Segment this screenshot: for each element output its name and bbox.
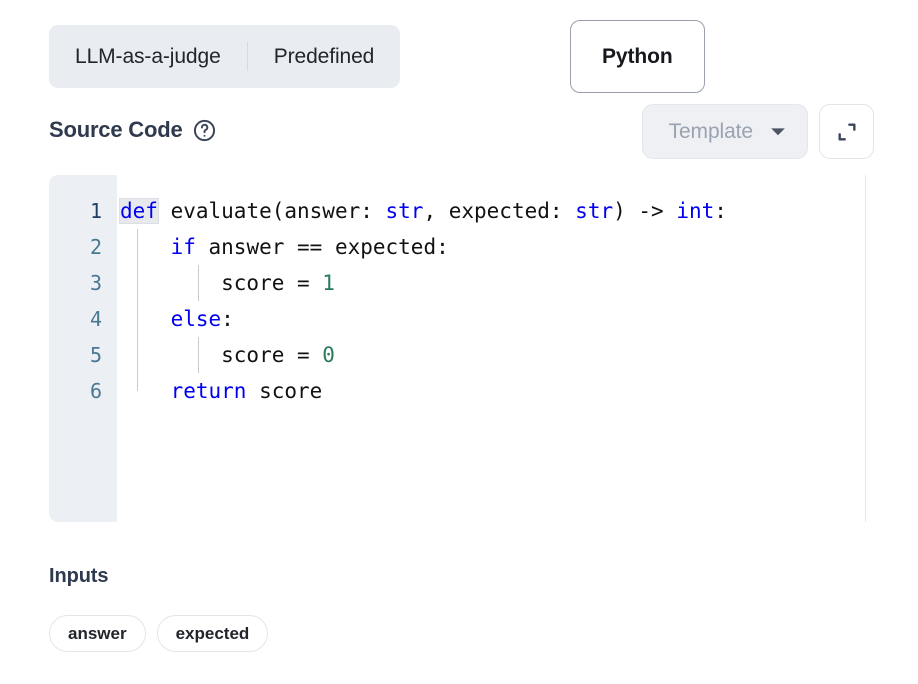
- source-code-title-group: Source Code: [49, 117, 217, 143]
- line-number: 4: [49, 301, 117, 337]
- template-button-label: Template: [669, 120, 753, 144]
- line-number: 3: [49, 265, 117, 301]
- code-token: 0: [322, 343, 335, 367]
- code-token: :: [221, 307, 234, 331]
- code-token: [120, 307, 171, 331]
- code-line: score = 0: [117, 337, 873, 373]
- code-token: if: [171, 235, 196, 259]
- code-token: str: [575, 199, 613, 223]
- line-number: 1: [49, 193, 117, 229]
- code-token: 1: [322, 271, 335, 295]
- tab-label: Predefined: [274, 45, 375, 69]
- python-scorer-panel: LLM-as-a-judge Predefined Python Source …: [0, 0, 918, 684]
- source-code-editor[interactable]: 1 2 3 4 5 6 def evaluate(answer: str, ex…: [49, 175, 873, 522]
- code-token: [120, 379, 171, 403]
- question-circle-icon[interactable]: [192, 118, 217, 143]
- code-line: def evaluate(answer: str, expected: str)…: [117, 193, 873, 229]
- inputs-section-title: Inputs: [49, 565, 108, 588]
- code-token: ) ->: [613, 199, 676, 223]
- code-token: score =: [120, 343, 322, 367]
- code-token: evaluate(answer:: [158, 199, 386, 223]
- input-chip-label: answer: [68, 624, 127, 644]
- line-number: 6: [49, 373, 117, 409]
- line-number: 2: [49, 229, 117, 265]
- code-token: else: [171, 307, 222, 331]
- tab-predefined[interactable]: Predefined: [248, 25, 401, 88]
- code-token: answer == expected:: [196, 235, 449, 259]
- tab-label: LLM-as-a-judge: [75, 45, 221, 69]
- code-token: int: [676, 199, 714, 223]
- list-item[interactable]: expected: [157, 615, 269, 652]
- editor-line-number-gutter: 1 2 3 4 5 6: [49, 175, 117, 522]
- tab-llm-as-a-judge[interactable]: LLM-as-a-judge: [49, 25, 247, 88]
- list-item[interactable]: answer: [49, 615, 146, 652]
- input-chip-label: expected: [176, 624, 250, 644]
- code-token: :: [714, 199, 727, 223]
- code-line: if answer == expected:: [117, 229, 873, 265]
- source-code-header: Source Code Template: [49, 104, 874, 162]
- expand-diagonal-icon: [836, 121, 858, 143]
- code-token: score =: [120, 271, 322, 295]
- tab-python[interactable]: Python: [570, 20, 705, 93]
- code-token: [120, 235, 171, 259]
- inputs-chip-list: answer expected: [49, 615, 268, 652]
- code-line: return score: [117, 373, 873, 409]
- code-token: return: [171, 379, 247, 403]
- tab-label: Python: [602, 45, 673, 69]
- code-token: score: [246, 379, 322, 403]
- editor-code-area[interactable]: def evaluate(answer: str, expected: str)…: [117, 175, 873, 522]
- expand-editor-button[interactable]: [819, 104, 874, 159]
- page-title: Source Code: [49, 117, 183, 143]
- code-token: def: [120, 199, 158, 223]
- template-dropdown-button[interactable]: Template: [642, 104, 808, 159]
- header-actions: Template: [642, 104, 874, 159]
- chevron-down-icon: [770, 127, 786, 137]
- code-token: , expected:: [423, 199, 575, 223]
- code-line: score = 1: [117, 265, 873, 301]
- code-token: str: [386, 199, 424, 223]
- scorer-type-tabbar: LLM-as-a-judge Predefined Python: [49, 25, 400, 88]
- line-number: 5: [49, 337, 117, 373]
- code-line: else:: [117, 301, 873, 337]
